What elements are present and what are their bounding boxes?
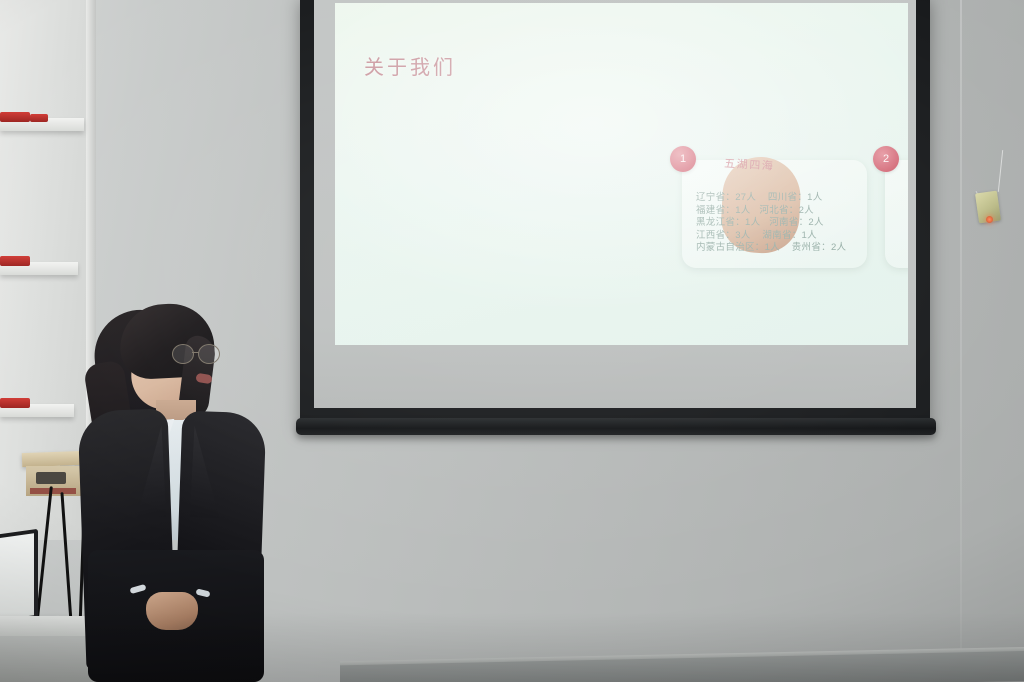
classroom-presentation-photo: 关于我们 1 五湖四海 辽宁省：27人 四川省：1人 福建省：1人 河北省：2人… bbox=[0, 0, 1024, 682]
scene-vignette bbox=[0, 0, 1024, 682]
